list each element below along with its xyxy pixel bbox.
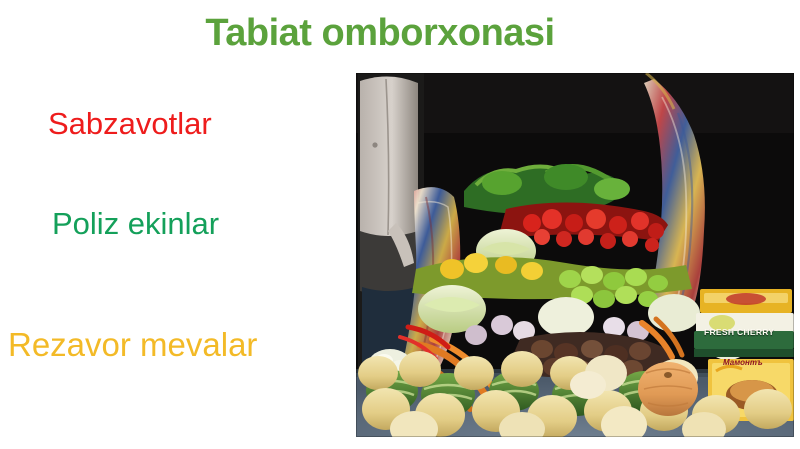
list-item-melons: Poliz ekinlar [52,206,219,242]
page-title: Tabiat omborxonasi [0,12,760,55]
pumpkin [638,362,698,416]
photo-artwork [356,73,794,437]
produce-market-display-photo [356,73,794,437]
list-item-vegetables: Sabzavotlar [48,106,212,142]
presentation-slide: Tabiat omborxonasi Sabzavotlar Poliz eki… [0,0,800,449]
list-item-berries: Rezavor mevalar [8,326,257,364]
